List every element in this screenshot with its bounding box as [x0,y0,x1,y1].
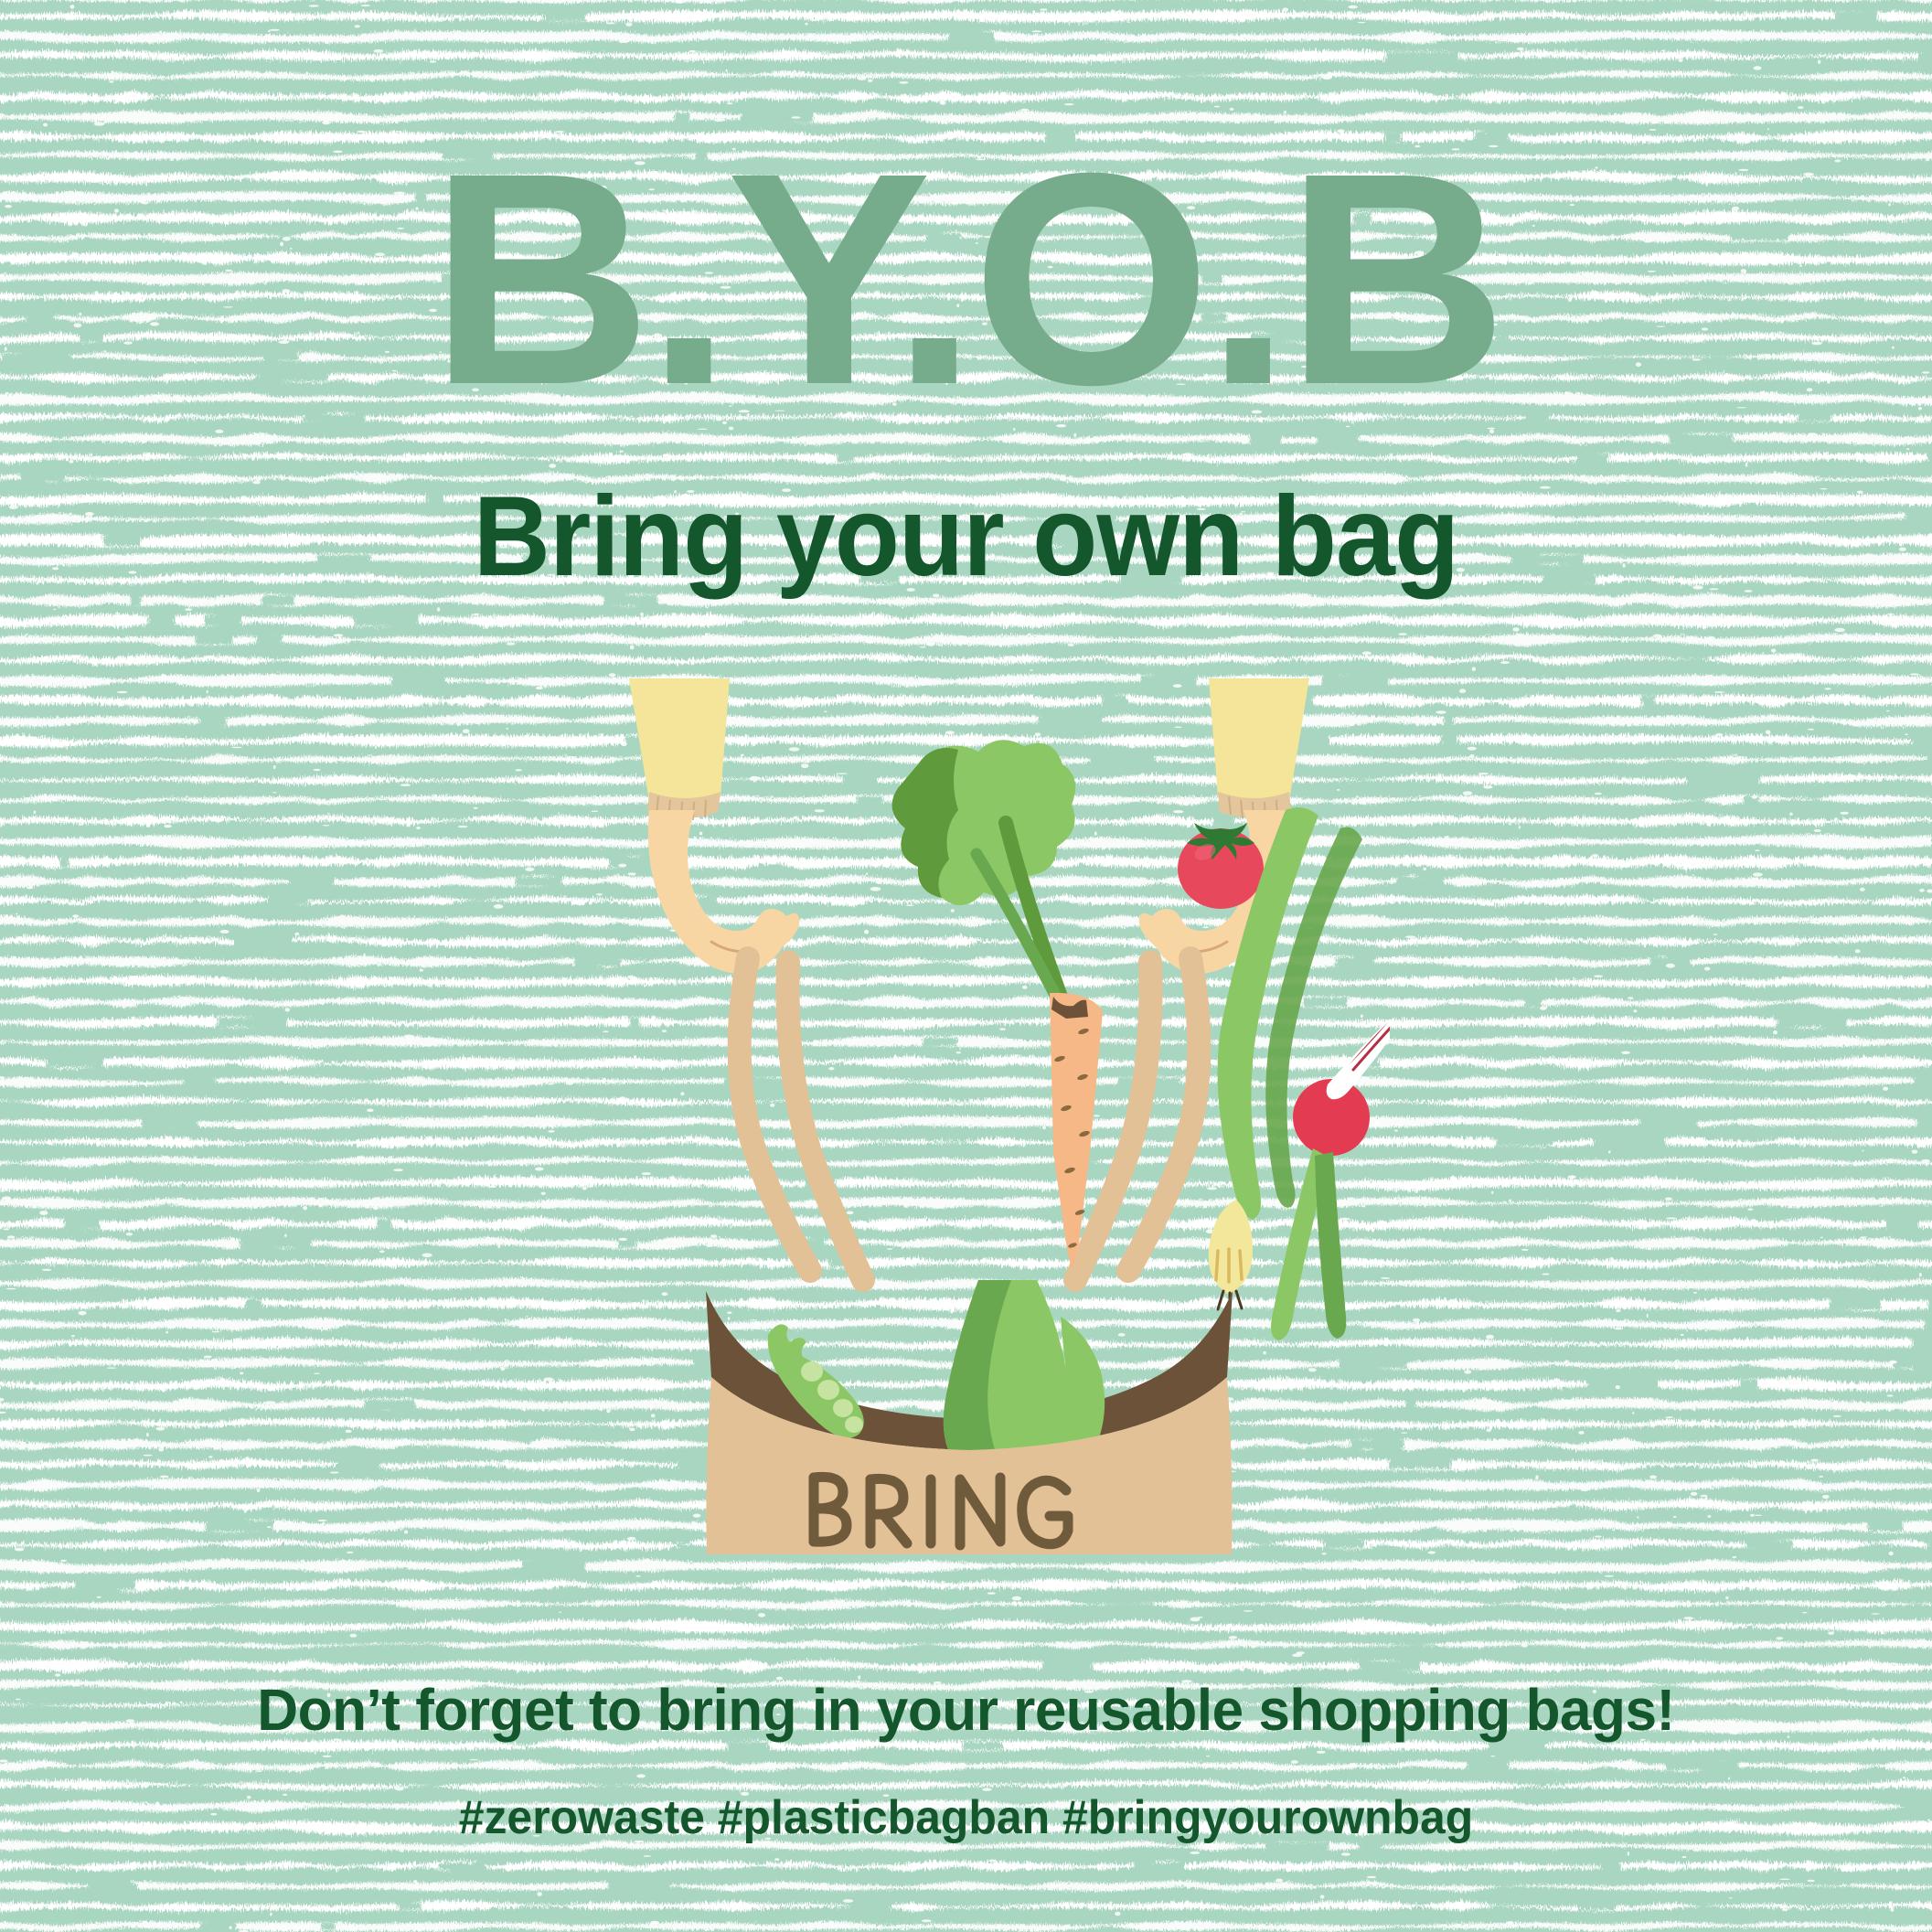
background-stripe-gap [528,1561,580,1571]
background-speck [302,1002,310,1005]
background-speck [555,131,565,133]
background-speck [1073,433,1076,437]
background-speck [1578,1431,1584,1435]
background-speck [988,1860,996,1863]
background-speck [5,205,12,208]
background-speck [1833,1415,1841,1417]
background-speck [310,219,314,220]
background-speck [1636,362,1641,367]
background-speck [1716,733,1724,736]
background-speck [27,887,33,889]
background-speck [381,1425,389,1428]
background-speck [333,1739,340,1741]
background-speck [869,318,871,320]
background-speck [1070,1681,1076,1683]
background-speck [1733,1556,1737,1558]
background-speck [1784,1405,1787,1408]
background-speck [1555,1541,1559,1543]
background-speck [687,1646,697,1648]
background-stripe-gap [246,1299,262,1309]
background-speck [1840,1318,1850,1322]
background-speck [350,1568,360,1571]
background-speck [446,1080,450,1082]
background-speck [488,1186,497,1188]
background-speck [165,1331,168,1334]
background-speck [101,1237,104,1240]
background-speck [458,826,468,827]
background-speck [505,1583,513,1584]
background-speck [1584,1765,1587,1767]
background-speck [1020,109,1029,112]
background-speck [548,333,556,336]
background-speck [401,1424,403,1426]
background-speck [128,571,136,573]
background-stripe-gap [963,1742,1002,1750]
background-speck [870,498,875,502]
background-speck [902,94,906,97]
background-speck [1859,419,1866,422]
background-speck [505,1318,507,1320]
background-speck [309,179,315,180]
background-speck [1835,159,1841,162]
background-speck [1515,1061,1521,1063]
background-stripe-gap [1396,877,1443,886]
background-speck [37,582,38,585]
background-speck [515,769,522,771]
background-speck [454,1402,458,1404]
background-speck [1637,1516,1638,1519]
background-speck [126,1719,134,1723]
poster-canvas: B.Y.O.B Bring your own bag [0,0,1932,1932]
background-speck [743,1605,750,1606]
background-speck [1910,673,1919,675]
background-speck [763,548,766,550]
background-stripe-gap [1894,1360,1924,1368]
background-speck [392,370,397,372]
background-speck [1423,868,1426,870]
background-speck [7,320,16,322]
background-speck [215,430,223,433]
background-speck [1368,37,1378,38]
background-speck [982,323,987,326]
background-speck [868,80,872,82]
background-stripe-gap [1740,1380,1758,1389]
background-stripe-gap [608,1883,670,1890]
background-speck [143,1782,149,1786]
background-speck [640,613,644,616]
background-speck [1568,1175,1576,1179]
background-speck [207,690,208,693]
background-speck [72,914,79,917]
background-speck [1899,548,1906,551]
background-speck [494,904,504,909]
background-speck [1412,1729,1414,1732]
background-speck [1580,961,1585,965]
background-speck [774,411,785,411]
background-speck [758,1613,765,1617]
background-stripe-gap [233,937,293,945]
background-speck [718,1667,723,1670]
background-speck [158,1447,164,1452]
background-speck [1511,981,1518,983]
background-speck [1766,731,1771,735]
background-speck [941,374,951,376]
background-speck [1640,1739,1646,1741]
background-speck [137,1542,145,1544]
background-speck [1911,984,1913,987]
background-speck [1055,1623,1063,1625]
background-speck [1745,590,1753,592]
background-speck [1013,428,1015,431]
background-speck [420,969,423,972]
background-speck [29,1929,34,1931]
background-speck [1728,1777,1730,1780]
background-stripe-gap [1359,1842,1382,1851]
background-speck [285,219,289,221]
background-speck [1337,129,1345,133]
background-speck [648,188,655,190]
background-speck [1464,1371,1471,1374]
background-speck [531,379,537,382]
background-speck [65,1789,68,1790]
background-speck [1616,1309,1620,1312]
background-speck [1691,1492,1698,1496]
background-speck [1709,588,1719,590]
background-speck [60,1829,70,1832]
background-speck [1463,1869,1468,1871]
background-speck [1486,1335,1494,1340]
background-speck [235,1126,245,1129]
background-speck [34,811,37,815]
background-speck [537,1892,541,1896]
background-speck [141,201,148,204]
background-speck [428,985,431,987]
background-speck [1841,1000,1843,1004]
background-speck [732,148,736,150]
background-speck [1596,166,1598,169]
background-speck [1570,204,1574,206]
background-speck [1608,1150,1611,1153]
background-speck [1863,1441,1870,1443]
background-stripe-gap [269,897,309,904]
background-speck [1153,349,1160,351]
background-stripe-gap [1543,575,1596,583]
background-speck [1364,1567,1372,1570]
background-speck [385,351,390,353]
background-speck [1810,922,1820,923]
background-speck [1653,635,1661,638]
background-speck [805,23,807,26]
background-speck [1708,1515,1712,1518]
background-speck [364,954,366,958]
background-speck [267,1443,273,1447]
background-speck [794,70,796,73]
background-stripe-gap [727,1742,768,1750]
background-speck [369,274,376,278]
background-speck [1761,1364,1770,1365]
background-speck [1520,1522,1529,1523]
background-speck [940,101,946,105]
background-speck [185,608,192,611]
background-speck [1450,369,1460,371]
background-stripe-gap [1384,133,1402,142]
background-speck [536,687,543,689]
background-stripe-gap [1731,233,1788,240]
background-speck [1459,688,1466,693]
background-stripe-gap [674,112,689,123]
background-speck [323,1756,332,1757]
background-speck [160,1476,169,1478]
background-speck [977,155,982,158]
background-speck [739,410,750,412]
background-speck [1903,1777,1905,1779]
background-speck [269,29,280,31]
background-speck [229,1927,232,1929]
background-stripe-gap [1250,434,1282,443]
background-speck [361,5,371,6]
background-speck [1633,1009,1637,1012]
background-speck [1782,1909,1788,1912]
background-speck [1521,1643,1528,1648]
background-speck [375,1808,378,1809]
background-speck [1828,1631,1834,1635]
background-speck [429,309,437,313]
background-speck [1788,1441,1799,1445]
background-stripe-gap [1386,52,1458,60]
background-speck [504,1460,509,1463]
background-speck [1428,1551,1436,1553]
background-speck [678,616,682,618]
background-speck [114,208,119,212]
background-speck [1593,1690,1596,1693]
background-stripe-gap [322,1923,336,1930]
background-speck [1808,729,1815,731]
background-speck [422,1254,432,1258]
background-speck [544,1140,548,1142]
background-speck [1682,1856,1687,1858]
background-speck [156,1427,165,1431]
background-speck [976,242,979,243]
background-speck [1284,111,1286,113]
background-speck [1822,1495,1830,1499]
background-speck [1540,1007,1547,1010]
background-speck [1238,635,1244,640]
background-speck [619,1718,625,1722]
background-stripe-gap [415,193,427,203]
background-speck [1322,76,1331,80]
background-speck [94,122,105,125]
background-speck [1197,508,1206,510]
background-speck [1774,158,1783,162]
background-speck [1752,795,1757,799]
background-speck [367,1109,374,1113]
background-speck [1064,103,1074,105]
background-stripe-gap [742,112,813,123]
background-speck [527,961,534,963]
background-speck [567,113,571,117]
background-speck [1887,1394,1894,1396]
background-speck [1639,1568,1643,1570]
background-speck [1645,240,1652,243]
background-speck [74,1421,82,1424]
background-speck [1491,1191,1493,1194]
background-speck [776,1677,783,1681]
background-speck [287,621,298,625]
background-speck [9,506,17,509]
background-stripe-gap [47,1058,103,1067]
background-speck [10,1222,15,1227]
background-speck [1414,145,1420,148]
background-speck [729,427,733,431]
background-speck [1478,773,1489,774]
background-speck [283,1794,288,1796]
background-speck [1773,1030,1777,1034]
background-speck [1888,203,1891,206]
background-speck [1434,1567,1437,1571]
background-speck [1446,1683,1453,1687]
background-speck [1860,1236,1866,1238]
background-stripe-gap [59,857,69,868]
background-speck [595,1687,603,1689]
background-speck [664,576,674,580]
background-speck [1476,741,1482,742]
background-speck [1496,1122,1500,1124]
background-speck [1084,1691,1094,1693]
background-speck [907,588,915,592]
background-speck [469,1759,478,1760]
background-speck [1803,173,1814,176]
background-stripe-gap [1043,1661,1093,1670]
background-stripe-gap [1746,1541,1793,1548]
background-speck [486,1237,490,1239]
background-speck [590,283,593,283]
background-speck [1819,354,1822,356]
background-speck [396,131,400,132]
background-speck [283,289,291,293]
background-stripe-gap [426,495,444,506]
background-stripe-gap [240,1239,312,1247]
background-speck [1343,1926,1348,1927]
background-speck [1656,326,1665,327]
background-speck [7,1235,15,1238]
background-stripe-gap [364,1400,414,1410]
background-speck [1158,288,1167,293]
background-speck [764,1838,771,1840]
background-speck [617,437,620,440]
background-speck [439,351,442,352]
background-speck [753,335,760,337]
background-speck [404,1035,414,1039]
background-speck [1918,407,1922,410]
background-speck [663,138,668,141]
background-speck [1414,251,1424,254]
background-stripe-gap [1777,1018,1846,1028]
background-stripe-gap [1511,555,1585,564]
background-stripe-gap [1524,998,1542,1007]
background-speck [6,1288,16,1290]
background-speck [146,1433,149,1436]
background-stripe-gap [442,273,483,283]
background-speck [933,593,940,597]
background-speck [1800,778,1805,782]
background-speck [636,1774,646,1777]
background-speck [1346,11,1353,15]
background-speck [333,151,343,154]
background-speck [1725,1596,1728,1599]
background-speck [1413,1318,1420,1322]
background-speck [1706,256,1715,260]
background-speck [1767,128,1769,130]
background-stripe-gap [264,354,299,360]
background-stripe-gap [1441,736,1457,745]
background-speck [714,119,725,122]
background-speck [674,490,676,494]
background-speck [400,1850,404,1852]
background-speck [726,69,728,72]
background-speck [1883,1087,1888,1091]
background-speck [631,416,633,418]
background-stripe-gap [1344,193,1354,203]
background-speck [1755,849,1759,851]
background-speck [871,36,880,39]
background-stripe-gap [603,595,657,605]
background-speck [314,769,321,771]
background-speck [776,1713,781,1715]
background-speck [16,913,17,915]
background-speck [285,1008,290,1011]
background-stripe-gap [2,354,61,360]
background-speck [1494,378,1503,379]
background-speck [1799,265,1803,267]
background-speck [1704,967,1710,971]
background-speck [420,1527,423,1529]
background-speck [1774,962,1780,964]
background-speck [1858,1745,1865,1748]
background-speck [1741,269,1746,272]
background-speck [397,701,405,705]
background-speck [69,460,74,464]
background-speck [1428,253,1438,257]
background-speck [1300,623,1310,624]
background-speck [270,1913,272,1916]
background-speck [487,256,490,260]
background-stripe-gap [1587,1380,1659,1389]
background-speck [1575,543,1578,547]
background-stripe-gap [1497,334,1509,342]
background-speck [1488,323,1499,326]
background-speck [1892,347,1895,349]
background-speck [663,454,669,457]
background-stripe-gap [1405,1400,1415,1410]
background-speck [1855,949,1861,953]
background-speck [559,1612,561,1613]
background-speck [1838,1162,1849,1164]
background-speck [1679,59,1682,62]
background-speck [149,1447,151,1450]
background-speck [1779,196,1782,200]
background-speck [1817,496,1823,499]
background-speck [1292,1927,1296,1931]
background-speck [1105,378,1107,381]
background-speck [186,194,190,195]
background-speck [43,123,48,127]
background-speck [437,607,440,612]
background-speck [634,1841,644,1842]
background-speck [117,135,123,139]
background-speck [1405,935,1415,938]
background-speck [1732,207,1739,211]
background-speck [1147,1724,1157,1725]
